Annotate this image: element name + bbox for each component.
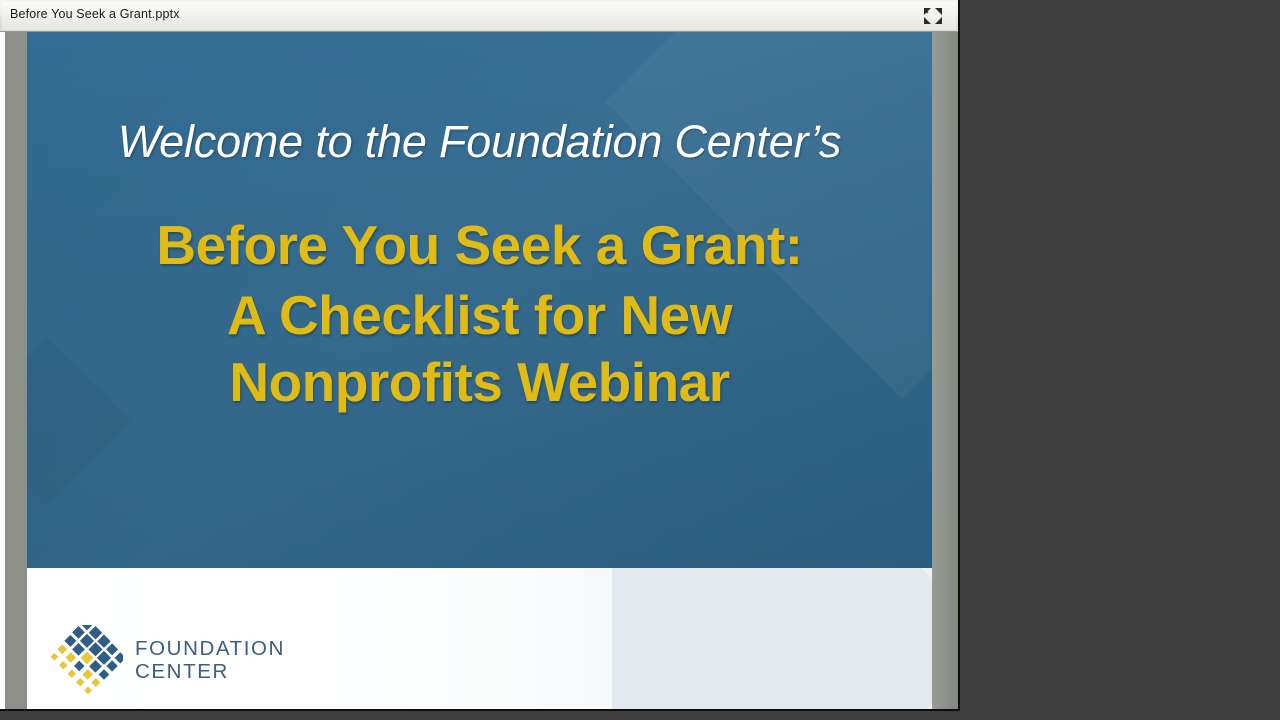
desktop-background: Before You Seek a Grant.pptx bbox=[0, 0, 1280, 720]
slide-text-block: Welcome to the Foundation Center’s Befor… bbox=[27, 32, 932, 415]
slide-stage-letterbox[interactable]: FOUNDATION CENTER Welcome to the Foundat… bbox=[5, 32, 958, 709]
presentation-viewer-window: Before You Seek a Grant.pptx bbox=[0, 0, 960, 711]
presentation-slide[interactable]: FOUNDATION CENTER Welcome to the Foundat… bbox=[27, 32, 932, 709]
foundation-center-diamond-logo-icon bbox=[51, 625, 123, 697]
window-title-bar[interactable]: Before You Seek a Grant.pptx bbox=[0, 0, 958, 32]
slide-welcome-line: Welcome to the Foundation Center’s bbox=[27, 118, 932, 165]
logo-word-line-2: CENTER bbox=[135, 661, 285, 684]
foundation-center-logo: FOUNDATION CENTER bbox=[51, 625, 285, 697]
slide-white-panel: FOUNDATION CENTER bbox=[27, 568, 932, 709]
slide-title-line-3: Nonprofits Webinar bbox=[27, 350, 932, 415]
slide-title-line-2: A Checklist for New bbox=[27, 283, 932, 348]
logo-word-line-1: FOUNDATION bbox=[135, 638, 285, 661]
foundation-center-wordmark: FOUNDATION CENTER bbox=[135, 638, 285, 684]
slide-title-line-1: Before You Seek a Grant: bbox=[27, 213, 932, 278]
window-title-text: Before You Seek a Grant.pptx bbox=[10, 7, 180, 21]
fullscreen-icon[interactable] bbox=[922, 6, 944, 26]
